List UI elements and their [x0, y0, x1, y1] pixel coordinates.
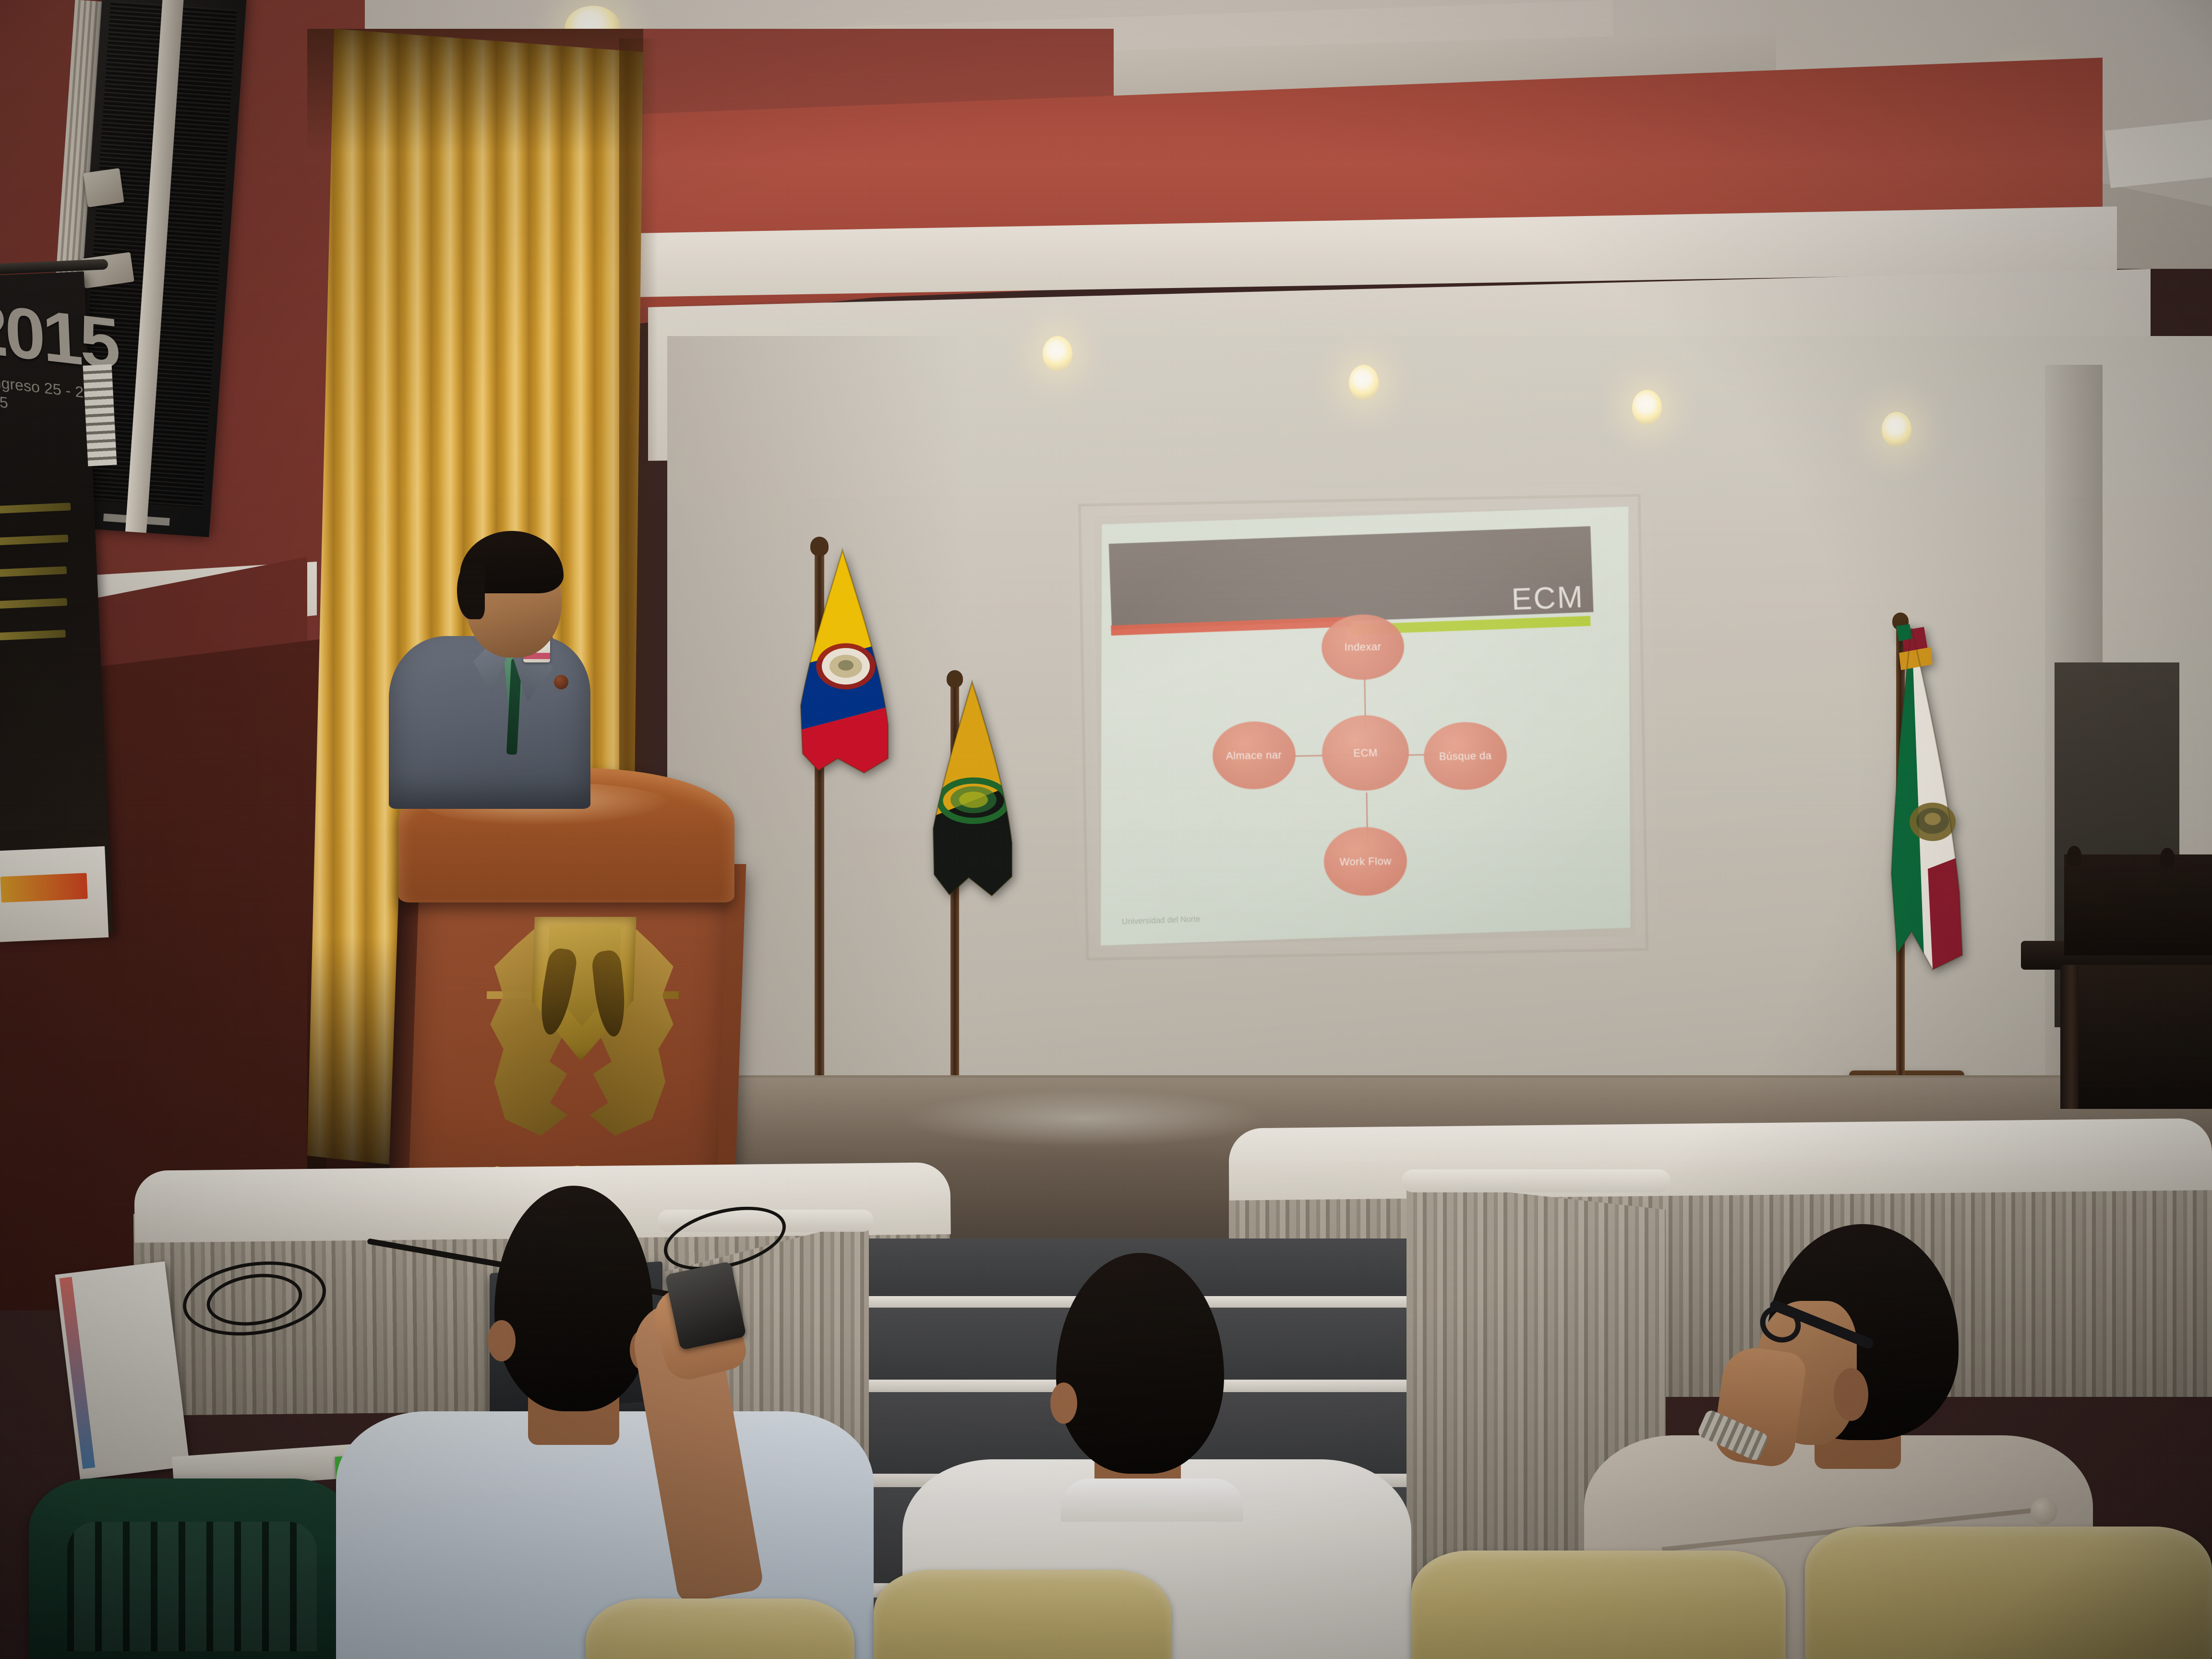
diagram-node-indexar: Indexar [1321, 613, 1405, 680]
flag-cravat [1896, 624, 1933, 670]
stage-spotlight-icon [1632, 390, 1662, 425]
stage-apron-cap-right [1228, 1118, 2212, 1200]
diagram-node-busqueda: Búsque da [1423, 721, 1507, 791]
chair-back-slats [67, 1522, 317, 1651]
slide-title-text: ECM [1511, 579, 1585, 617]
diagram-node-label: Indexar [1344, 641, 1381, 653]
stage-floor-puddle-reflection [902, 1090, 1267, 1147]
stage-furniture-body [2079, 965, 2212, 1109]
mexico-flag [1887, 624, 1978, 1008]
presenter-hair-side [457, 562, 485, 619]
audience-center-collar [1061, 1479, 1243, 1522]
auditorium-seat[interactable] [1411, 1551, 1786, 1659]
colombia-flag [792, 547, 893, 826]
audience-left-person [336, 1171, 912, 1659]
curtain-shadow-top [307, 29, 643, 154]
auditorium-seat[interactable] [1805, 1527, 2212, 1659]
audience-center-head [1056, 1253, 1224, 1474]
ceiling-white-strip [2104, 119, 2212, 188]
audience-right-ear [1834, 1368, 1868, 1421]
audience-center-ear [1050, 1382, 1077, 1424]
auditorium-seat[interactable] [586, 1599, 854, 1659]
diagram-node-label: Búsque da [1439, 750, 1492, 762]
chair-finial-icon [2067, 846, 2081, 866]
stage-spotlight-icon [1349, 365, 1379, 400]
diagram-node-label: Work Flow [1339, 855, 1391, 867]
stage-spotlight-icon [1882, 412, 1911, 447]
audience-left-ear [488, 1320, 516, 1361]
slide-surface: ECM Indexar Almace nar ECM Búsque da [1093, 506, 1635, 945]
presenter-shirt-button [554, 675, 568, 689]
diagram-node-workflow: Work Flow [1323, 826, 1407, 896]
diagram-node-label: ECM [1353, 747, 1378, 758]
presenter-person [365, 533, 634, 802]
stage-spotlight-icon [1043, 336, 1072, 372]
diagram-node-label: Almace nar [1226, 749, 1282, 761]
audience-left-head [494, 1186, 653, 1411]
banner-footer-colorbar [0, 873, 88, 902]
institutional-flag [926, 680, 1018, 934]
auditorium-seat[interactable] [874, 1570, 1171, 1659]
secondary-poster-edge [83, 364, 117, 467]
slide-footer-text: Universidad del Norte [1121, 914, 1200, 926]
audience-right-jacket-button [2031, 1498, 2057, 1525]
banner-footer [0, 846, 108, 942]
projection-screen: ECM Indexar Almace nar ECM Búsque da [1093, 506, 1635, 945]
diagram-node-ecm: ECM [1322, 715, 1409, 792]
diagram-node-almacenar: Almace nar [1212, 721, 1296, 790]
slide-title-bar: ECM [1109, 526, 1593, 630]
step-side-wall-right-cap [1402, 1169, 1671, 1192]
banner-text-lines [0, 502, 91, 708]
wall-fitting-icon [83, 168, 124, 207]
podium-coat-of-arms: REPUBLICA DE COLOMBIA [475, 902, 687, 1200]
auditorium-photo: 2015 Congreso 25 - 27 2015 ECM [0, 0, 2212, 1659]
chair-finial-icon [2160, 848, 2175, 868]
stage-wooden-chair [2064, 854, 2212, 955]
